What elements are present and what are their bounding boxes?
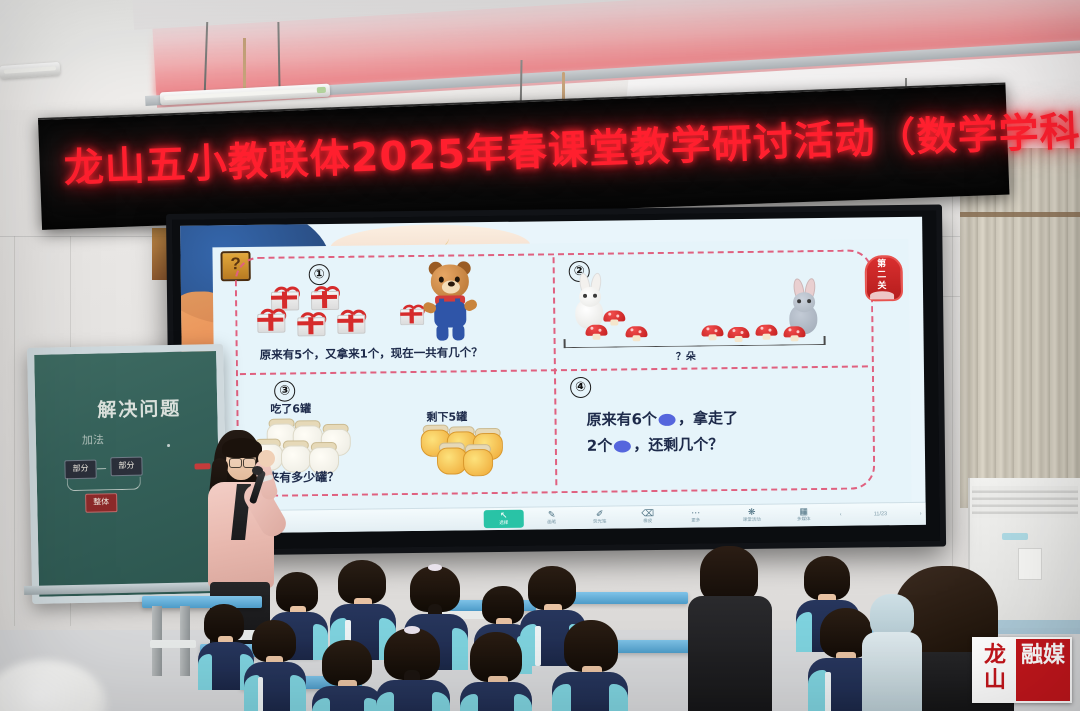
- question-3-number: ③: [274, 380, 295, 401]
- honey-jar-full: [437, 442, 465, 472]
- chalk-arrow: —: [96, 463, 106, 474]
- ac-badge: [1002, 533, 1028, 540]
- blue-oval-icon: [659, 413, 676, 425]
- toolbar-label: 画笔: [532, 519, 572, 524]
- gift-box: [297, 312, 323, 334]
- microphone-head: [252, 466, 263, 475]
- question-3-label-left: 剩下5罐: [426, 408, 467, 424]
- next-slide-button[interactable]: ›: [920, 511, 922, 517]
- flower: [755, 325, 777, 340]
- toolbar-eraser-tool[interactable]: ⌫ 橡皮: [628, 508, 668, 526]
- toolbar-label: 多媒体: [784, 516, 824, 521]
- question-1-number: ①: [309, 264, 330, 285]
- select-icon: ↖: [484, 510, 524, 520]
- light-tube: [4, 66, 56, 74]
- seal-char-3: 关: [865, 281, 899, 291]
- gift-box-carried: [400, 305, 422, 324]
- toolbar-highlighter-tool[interactable]: ✐ 荧光笔: [580, 508, 620, 526]
- highlighter-icon: ✐: [580, 508, 620, 518]
- chalkboard-subtitle: 加法: [82, 431, 104, 447]
- toolbar-pen-tool[interactable]: ✎ 画笔: [532, 509, 572, 527]
- prev-slide-button[interactable]: ‹: [840, 512, 842, 518]
- watermark-left-text: 龙山: [974, 639, 1016, 701]
- flower: [727, 327, 749, 342]
- brace-tick-right: [824, 336, 826, 345]
- gift-box: [311, 286, 337, 308]
- toolbar-select-tool[interactable]: ↖ 选择: [484, 510, 524, 528]
- chalkboard-card-whole: 整体: [85, 493, 117, 513]
- media-icon: ▦: [784, 506, 824, 516]
- flower: [783, 326, 805, 341]
- chalkboard-card-part-2: 部分: [110, 457, 142, 477]
- ac-control-panel[interactable]: [1018, 548, 1042, 580]
- seal-char-1: 第: [865, 259, 899, 269]
- desk-shelf: [150, 640, 196, 648]
- bear-character: [421, 264, 478, 343]
- gift-box: [257, 309, 283, 331]
- led-banner-text: 龙山五小教联体2025年春课堂教学研讨活动（数学学科）: [63, 102, 995, 194]
- question-4-line-1: 原来有6个，拿走了: [586, 407, 738, 430]
- watermark-right-text: 融媒: [1016, 639, 1070, 701]
- q4-text-a: 原来有6个: [586, 410, 657, 429]
- toolbar-media-tool[interactable]: ▦ 多媒体: [784, 506, 824, 524]
- lamp-cable: [243, 38, 246, 94]
- flower: [701, 325, 723, 340]
- media-watermark-logo: 龙山 融媒: [972, 637, 1072, 703]
- presentation-slide: ? ①: [180, 217, 926, 534]
- teacher-glasses-left: [229, 458, 242, 468]
- question-4-number: ④: [570, 377, 591, 398]
- observer-adult: [862, 594, 922, 711]
- flower: [625, 326, 647, 341]
- flower: [603, 310, 625, 325]
- activity-icon: ❋: [732, 507, 772, 517]
- q4-text-c: 2个: [587, 437, 613, 455]
- slide-page-indicator: 11/23: [874, 511, 887, 517]
- teacher-hand: [258, 450, 275, 467]
- toolbar-label: 选择: [484, 520, 524, 525]
- student: [244, 620, 306, 702]
- more-icon: ⋯: [676, 507, 716, 517]
- toolbar-label: 橡皮: [628, 518, 668, 523]
- toolbar-activity-tool[interactable]: ❋ 课堂活动: [732, 507, 772, 525]
- student: [460, 632, 532, 711]
- toolbar-label: 荧光笔: [580, 518, 620, 523]
- honey-jar-full: [463, 444, 491, 474]
- teacher-hair-front: [222, 438, 262, 458]
- slide-content-card: ? ①: [212, 239, 911, 515]
- student-with-ponytail: [376, 628, 450, 711]
- window-curtains: [960, 148, 1080, 508]
- chalkboard-title: 解决问题: [97, 394, 182, 423]
- q4-text-b: ，拿走了: [678, 409, 738, 428]
- chalkboard-card-part-1: 部分: [64, 460, 96, 480]
- wall-seam: [14, 236, 15, 626]
- pen-icon: ✎: [532, 509, 572, 519]
- slide-navigation[interactable]: ‹ 11/23 ›: [840, 505, 926, 524]
- question-3-label-eaten: 吃了6罐: [270, 400, 311, 416]
- gift-box: [337, 310, 363, 332]
- seal-char-2: 二: [865, 270, 899, 280]
- toolbar-label: 课堂活动: [732, 517, 772, 522]
- gift-box: [271, 286, 297, 308]
- q4-text-d: ，还剩几个？: [633, 435, 723, 454]
- chalk-brace: [67, 477, 141, 492]
- level-seal-stamp: 第 二 关: [865, 255, 900, 303]
- brace-tick-left: [564, 339, 566, 348]
- question-4-line-2: 2个，还剩几个？: [587, 433, 724, 456]
- ac-vents: [972, 486, 1078, 518]
- question-1-text: 原来有5个，又拿来1个，现在一共有几个？: [260, 344, 483, 363]
- observer-adult: [688, 546, 772, 711]
- classroom-photo-scene: 龙山五小教联体2025年春课堂教学研讨活动（数学学科） ? ①: [0, 0, 1080, 711]
- seal-wave: [870, 291, 894, 299]
- flower: [585, 325, 607, 340]
- curtain-rod: [960, 212, 1080, 217]
- eraser-icon: ⌫: [628, 508, 668, 518]
- foreground-blur-object: [0, 660, 107, 711]
- student: [312, 640, 382, 711]
- chalk-dot: [167, 444, 170, 447]
- light-cap: [317, 87, 326, 93]
- student: [552, 620, 628, 711]
- toolbar-label: 更多: [676, 517, 716, 522]
- toolbar-more-tool[interactable]: ⋯ 更多: [676, 507, 716, 525]
- blue-oval-icon: [614, 440, 631, 452]
- question-2-text: ？朵: [676, 348, 696, 363]
